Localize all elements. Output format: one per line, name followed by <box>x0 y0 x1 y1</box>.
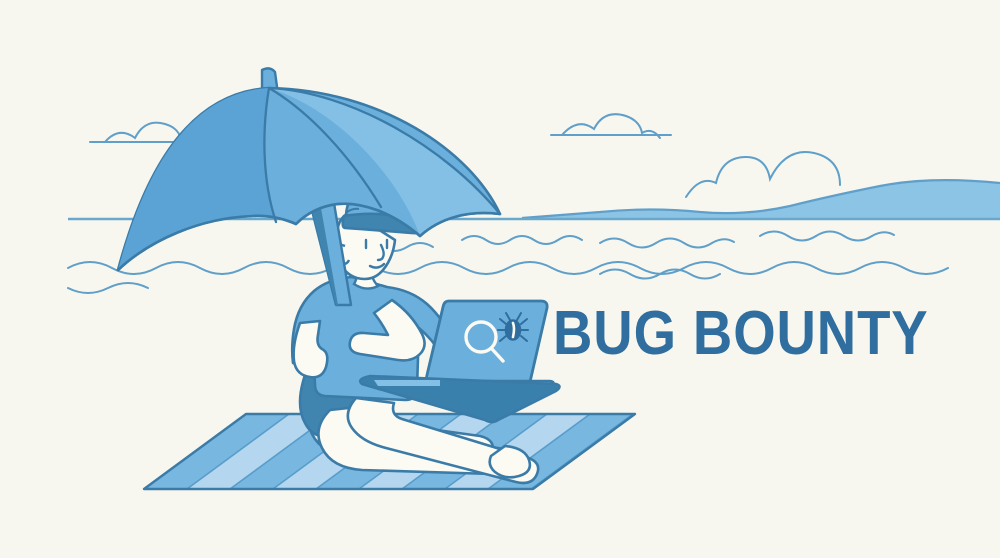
laptop-keys <box>374 380 440 386</box>
bug-stripe <box>513 323 514 337</box>
beach-scene-illustration <box>0 0 1000 558</box>
illustration-canvas: BUG BOUNTY <box>0 0 1000 558</box>
laptop-screen-inner <box>436 307 538 376</box>
page-title: BUG BOUNTY <box>553 303 929 365</box>
